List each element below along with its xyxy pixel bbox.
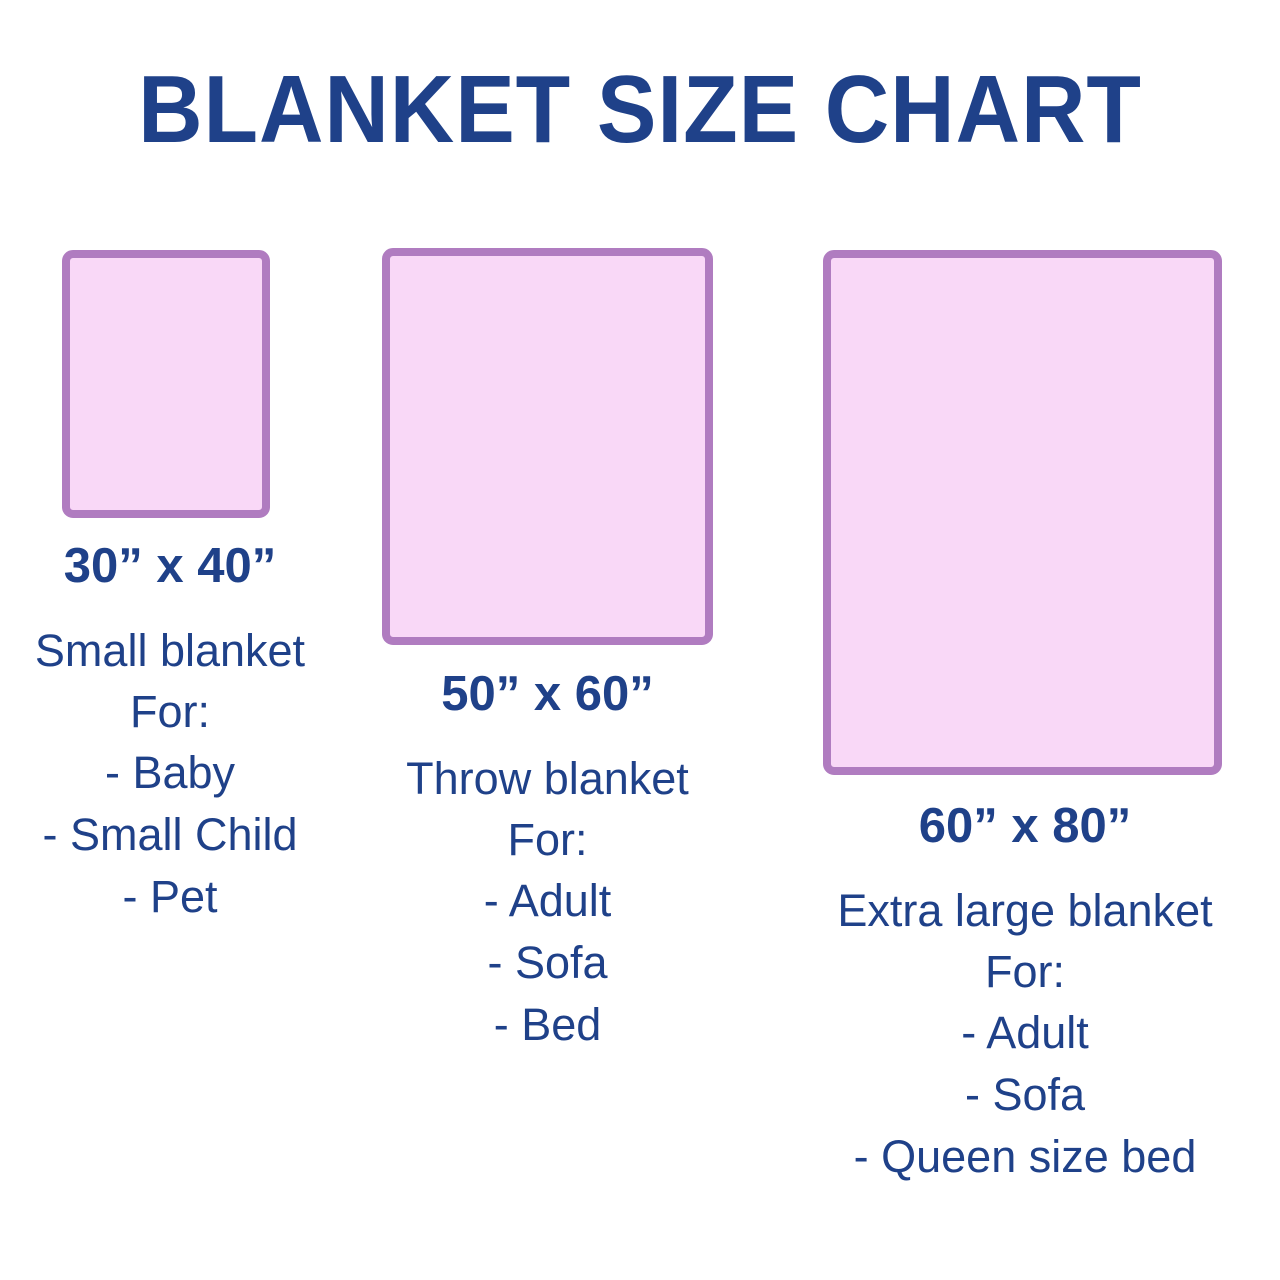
list-item: - Adult [790, 1002, 1260, 1064]
size-label-small: 30” x 40” [0, 536, 340, 596]
use-list-throw: - Adult - Sofa - Bed [355, 870, 740, 1056]
use-list-xlarge: - Adult - Sofa - Queen size bed [790, 1002, 1260, 1188]
list-item: - Small Child [0, 804, 340, 866]
size-label-throw: 50” x 60” [355, 664, 740, 724]
for-label-xlarge: For: [790, 942, 1260, 1002]
list-item: - Sofa [790, 1064, 1260, 1126]
caption-small: 30” x 40” Small blanket For: - Baby - Sm… [0, 536, 340, 928]
type-label-throw: Throw blanket [355, 748, 740, 810]
for-label-throw: For: [355, 810, 740, 870]
page-title: BLANKET SIZE CHART [45, 62, 1235, 158]
list-item: - Queen size bed [790, 1126, 1260, 1188]
for-label-small: For: [0, 682, 340, 742]
use-list-small: - Baby - Small Child - Pet [0, 742, 340, 928]
list-item: - Adult [355, 870, 740, 932]
blanket-swatch-throw [382, 248, 713, 645]
list-item: - Pet [0, 866, 340, 928]
blanket-swatch-xlarge [823, 250, 1222, 775]
caption-xlarge: 60” x 80” Extra large blanket For: - Adu… [790, 796, 1260, 1188]
size-label-xlarge: 60” x 80” [790, 796, 1260, 856]
type-label-small: Small blanket [0, 620, 340, 682]
caption-throw: 50” x 60” Throw blanket For: - Adult - S… [355, 664, 740, 1056]
type-label-xlarge: Extra large blanket [790, 880, 1260, 942]
list-item: - Bed [355, 994, 740, 1056]
blanket-swatch-small [62, 250, 270, 518]
list-item: - Baby [0, 742, 340, 804]
list-item: - Sofa [355, 932, 740, 994]
